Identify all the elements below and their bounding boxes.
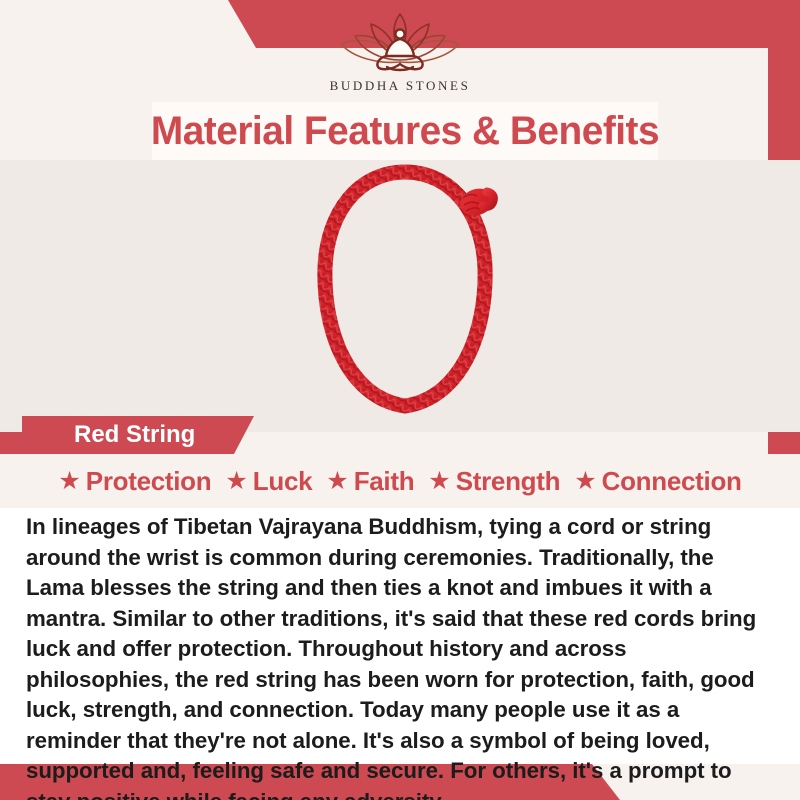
feature-label: Strength [456, 466, 560, 497]
product-name-ribbon: Red String [22, 416, 254, 454]
star-icon: ★ [58, 469, 80, 494]
feature-item-protection: ★ Protection [53, 466, 216, 497]
feature-item-faith: ★ Faith [321, 466, 419, 497]
description-section: In lineages of Tibetan Vajrayana Buddhis… [0, 508, 800, 764]
lotus-meditation-icon [325, 10, 475, 76]
features-list: ★ Protection ★ Luck ★ Faith ★ Strength ★… [0, 454, 800, 508]
feature-item-strength: ★ Strength [423, 466, 565, 497]
description-text: In lineages of Tibetan Vajrayana Buddhis… [26, 512, 768, 800]
star-icon: ★ [326, 469, 348, 494]
star-icon: ★ [225, 469, 247, 494]
feature-item-luck: ★ Luck [220, 466, 317, 497]
feature-item-connection: ★ Connection [569, 466, 746, 497]
feature-label: Faith [354, 466, 415, 497]
infographic-page: BUDDHA STONES Material Features & Benefi… [0, 0, 800, 800]
product-name-label: Red String [22, 421, 195, 449]
product-image-panel [0, 160, 800, 432]
brand-name: BUDDHA STONES [330, 78, 471, 94]
feature-label: Connection [602, 466, 742, 497]
star-icon: ★ [574, 469, 596, 494]
star-icon: ★ [428, 469, 450, 494]
brand-logo: BUDDHA STONES [0, 10, 800, 94]
title-band: Material Features & Benefits [152, 102, 658, 160]
page-title: Material Features & Benefits [151, 109, 659, 154]
feature-label: Luck [253, 466, 312, 497]
feature-label: Protection [86, 466, 212, 497]
